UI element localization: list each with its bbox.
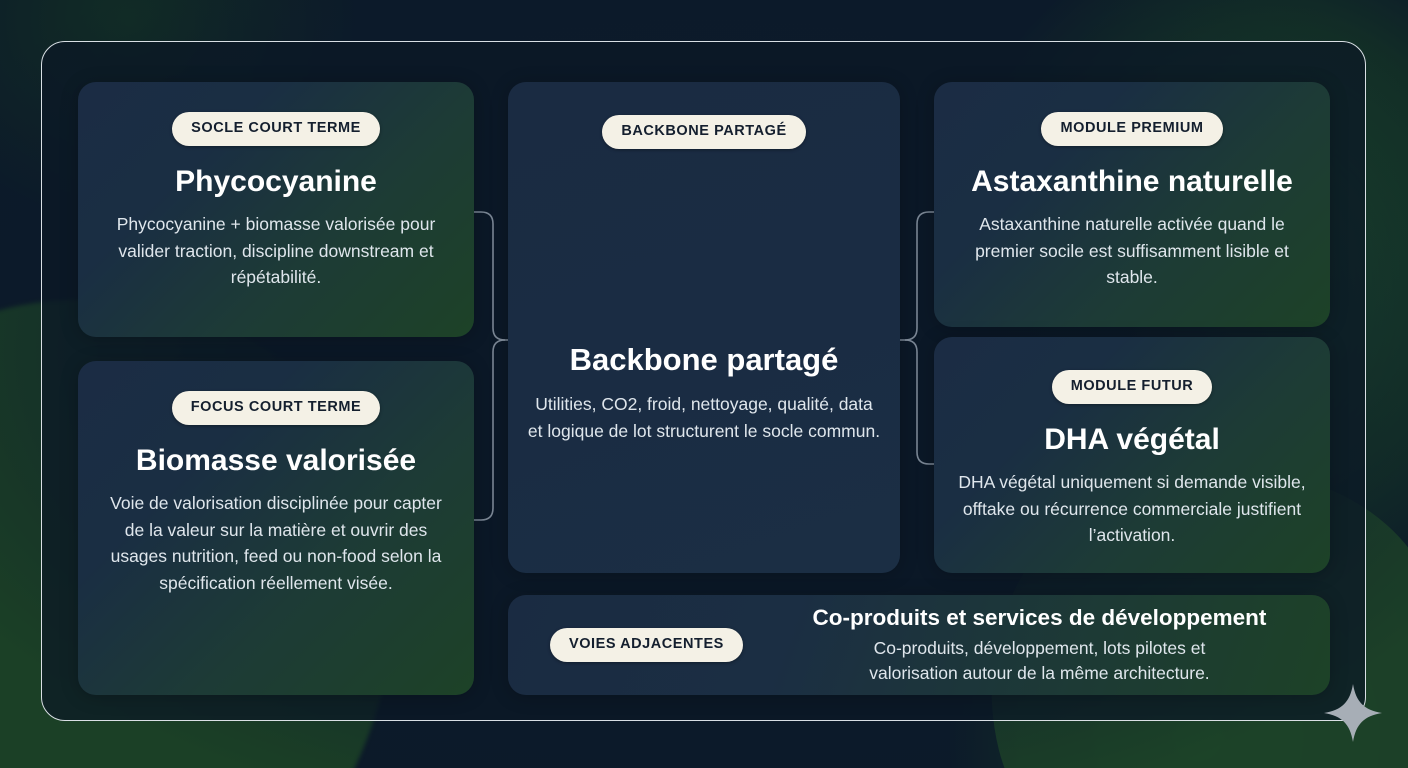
badge-module-premium: MODULE PREMIUM [1041,112,1222,146]
badge-focus-court-terme: FOCUS COURT TERME [172,391,380,425]
card-voies-adjacentes[interactable]: VOIES ADJACENTES Co-produits et services… [508,595,1330,695]
sparkle-icon [1322,682,1384,744]
badge-voies-adjacentes: VOIES ADJACENTES [550,628,743,662]
card-title-astaxanthine: Astaxanthine naturelle [971,165,1293,199]
card-description-biomasse: Voie de valorisation disciplinée pour ca… [102,490,450,596]
diagram-stage: SOCLE COURT TERME Phycocyanine Phycocyan… [0,0,1408,768]
card-description-voies-line1: Co-produits, développement, lots pilotes… [874,636,1206,661]
card-phycocyanine[interactable]: SOCLE COURT TERME Phycocyanine Phycocyan… [78,82,474,337]
card-title-phycocyanine: Phycocyanine [175,165,377,199]
card-description-dha: DHA végétal uniquement si demande visibl… [958,469,1306,549]
badge-slot-backbone: BACKBONE PARTAGÉ [508,115,900,149]
badge-slot-voies: VOIES ADJACENTES [550,628,743,662]
badge-module-futur: MODULE FUTUR [1052,370,1213,404]
badge-socle-court-terme: SOCLE COURT TERME [172,112,380,146]
card-astaxanthine-naturelle[interactable]: MODULE PREMIUM Astaxanthine naturelle As… [934,82,1330,327]
card-description-backbone: Utilities, CO2, froid, nettoyage, qualit… [526,391,882,444]
card-dha-vegetal[interactable]: MODULE FUTUR DHA végétal DHA végétal uni… [934,337,1330,573]
card-title-backbone: Backbone partagé [570,343,839,378]
card-title-biomasse: Biomasse valorisée [136,444,416,478]
card-backbone-partage[interactable]: BACKBONE PARTAGÉ Backbone partagé Utilit… [508,82,900,573]
card-description-voies-line2: valorisation autour de la même architect… [869,661,1209,686]
voies-text-block: Co-produits et services de développement… [773,604,1306,687]
card-title-dha: DHA végétal [1044,423,1220,457]
card-description-astaxanthine: Astaxanthine naturelle activée quand le … [958,211,1306,291]
card-description-phycocyanine: Phycocyanine + biomasse valorisée pour v… [102,211,450,291]
card-biomasse-valorisee[interactable]: FOCUS COURT TERME Biomasse valorisée Voi… [78,361,474,695]
card-board: SOCLE COURT TERME Phycocyanine Phycocyan… [0,0,1408,768]
card-title-voies-adjacentes: Co-produits et services de développement [813,604,1267,631]
badge-backbone-partage: BACKBONE PARTAGÉ [602,115,805,149]
